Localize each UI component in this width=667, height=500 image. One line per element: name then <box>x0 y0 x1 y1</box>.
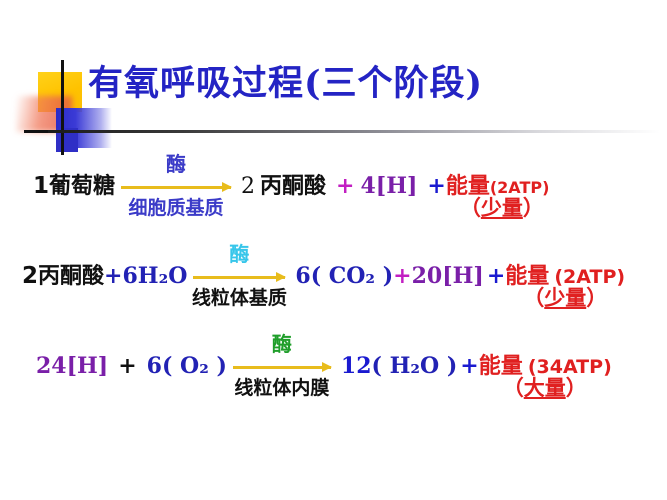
stage2-reactant-coefficient: 2 <box>22 263 38 289</box>
stage1-amount-word: 少量 <box>481 195 523 220</box>
stage2-amount-note: （少量） <box>523 282 607 312</box>
stage3-arrow-line <box>233 361 331 373</box>
stage3-plus-2: + <box>460 353 478 379</box>
stage3-amount-note: （大量） <box>503 372 587 402</box>
stage1-plus-2: + <box>427 173 445 199</box>
stage2-hydrogen: 20[H] <box>412 263 484 289</box>
stage2-reactant: 丙酮酸 <box>38 258 104 290</box>
stage2-product: ( CO₂ ) <box>311 263 393 289</box>
stage1-reaction-arrow: 酶 细胞质基质 <box>121 181 231 193</box>
stage3-oxygen: ( O₂ ) <box>162 353 227 379</box>
stage1-plus-1: + <box>336 173 354 199</box>
stage3-plus-0: + <box>118 353 136 379</box>
stage1-product: 丙酮酸 <box>260 168 326 200</box>
stage1-energy-group: 能量(2ATP) （少量） <box>446 168 550 200</box>
stage3-location-label: 线粒体内膜 <box>234 373 329 400</box>
stage1-location-label: 细胞质基质 <box>129 193 224 220</box>
stage2-product-coefficient: 6 <box>295 263 310 289</box>
stage3-amount-word: 大量 <box>524 375 566 400</box>
stage2-amount-word: 少量 <box>544 285 586 310</box>
stage2-plus-1: + <box>393 263 411 289</box>
stage1-reactant-coefficient: 1 <box>33 173 49 199</box>
stage2-location-label: 线粒体基质 <box>192 283 287 310</box>
stage2-plus-2: + <box>487 263 505 289</box>
stage3-product: ( H₂O ) <box>372 353 458 379</box>
equation-row-stage-3: 24[H] + 6 ( O₂ ) 酶 线粒体内膜 12 ( H₂O ) + 能量… <box>0 348 667 380</box>
stage1-hydrogen: 4[H] <box>360 173 417 199</box>
stage2-energy-group: 能量 (2ATP) （少量） <box>505 258 625 290</box>
title-underline-rule <box>48 130 660 133</box>
stage1-product-coefficient: 2 <box>241 174 255 199</box>
stage3-energy-group: 能量 (34ATP) （大量） <box>479 348 612 380</box>
deco-vertical-line <box>61 60 64 155</box>
stage2-reaction-arrow: 酶 线粒体基质 <box>193 271 285 283</box>
stage2-plus-0: + <box>104 263 122 289</box>
stage1-amount-note: （少量） <box>460 192 544 222</box>
stage3-enzyme-label: 酶 <box>272 328 292 357</box>
stage2-enzyme-label: 酶 <box>229 238 249 267</box>
stage3-hydrogen-reactant: 24[H] <box>36 353 108 379</box>
equation-row-stage-2: 2 丙酮酸 + 6H₂O 酶 线粒体基质 6 ( CO₂ ) + 20[H] +… <box>0 258 667 290</box>
stage1-enzyme-label: 酶 <box>166 148 186 177</box>
stage1-reactant: 葡萄糖 <box>49 168 115 200</box>
stage1-arrow-line <box>121 181 231 193</box>
page-title: 有氧呼吸过程(三个阶段) <box>88 55 483 106</box>
title-block: 有氧呼吸过程(三个阶段) <box>0 55 667 160</box>
stage3-product-coefficient: 12 <box>341 353 372 379</box>
equation-row-stage-1: 1 葡萄糖 酶 细胞质基质 2 丙酮酸 + 4[H] + 能量(2ATP) （少… <box>0 168 667 200</box>
stage3-reaction-arrow: 酶 线粒体内膜 <box>233 361 331 373</box>
stage2-water-reactant: 6H₂O <box>122 263 187 289</box>
stage2-arrow-line <box>193 271 285 283</box>
stage3-oxygen-coefficient: 6 <box>147 353 162 379</box>
